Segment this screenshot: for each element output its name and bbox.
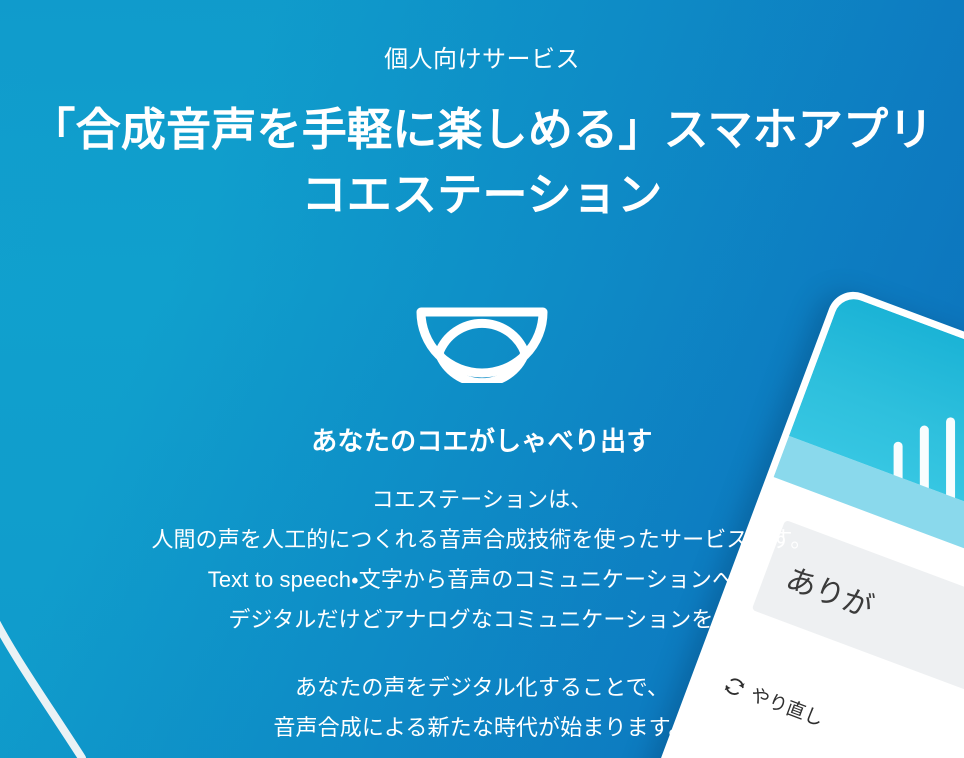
- headline-line-2: コエステーション: [0, 162, 964, 227]
- body-line: コエステーションは、: [0, 480, 964, 520]
- logo-container: [0, 303, 964, 383]
- hero-section: 個人向けサービス 「合成音声を手軽に楽しめる」スマホアプリ コエステーション: [0, 0, 964, 257]
- page-title: 「合成音声を手軽に楽しめる」スマホアプリ コエステーション: [0, 97, 964, 228]
- mouth-logo-icon: [413, 303, 551, 383]
- landing-page: ありが やり直し 個人向けサービス 「合成音声を手軽に楽しめる」スマホアプリ コ…: [0, 0, 964, 758]
- body-line: デジタルだけどアナログなコミュニケーションを。: [0, 600, 964, 640]
- headline-line-1: 「合成音声を手軽に楽しめる」スマホアプリ: [0, 97, 964, 162]
- body-paragraph-2: あなたの声をデジタル化することで、 音声合成による新たな時代が始まります。: [0, 668, 964, 748]
- body-line: あなたの声をデジタル化することで、: [0, 668, 964, 708]
- body-paragraph-1: コエステーションは、 人間の声を人工的につくれる音声合成技術を使ったサービスです…: [0, 480, 964, 640]
- eyebrow-label: 個人向けサービス: [0, 46, 964, 75]
- body-line: Text to speech・文字から音声のコミュニケーションへ。: [0, 560, 964, 600]
- body-line: 音声合成による新たな時代が始まります。: [0, 708, 964, 748]
- body-line: 人間の声を人工的につくれる音声合成技術を使ったサービスです。: [0, 520, 964, 560]
- body-section: あなたのコエがしゃべり出す コエステーションは、 人間の声を人工的につくれる音声…: [0, 425, 964, 748]
- lead-text: あなたのコエがしゃべり出す: [0, 425, 964, 458]
